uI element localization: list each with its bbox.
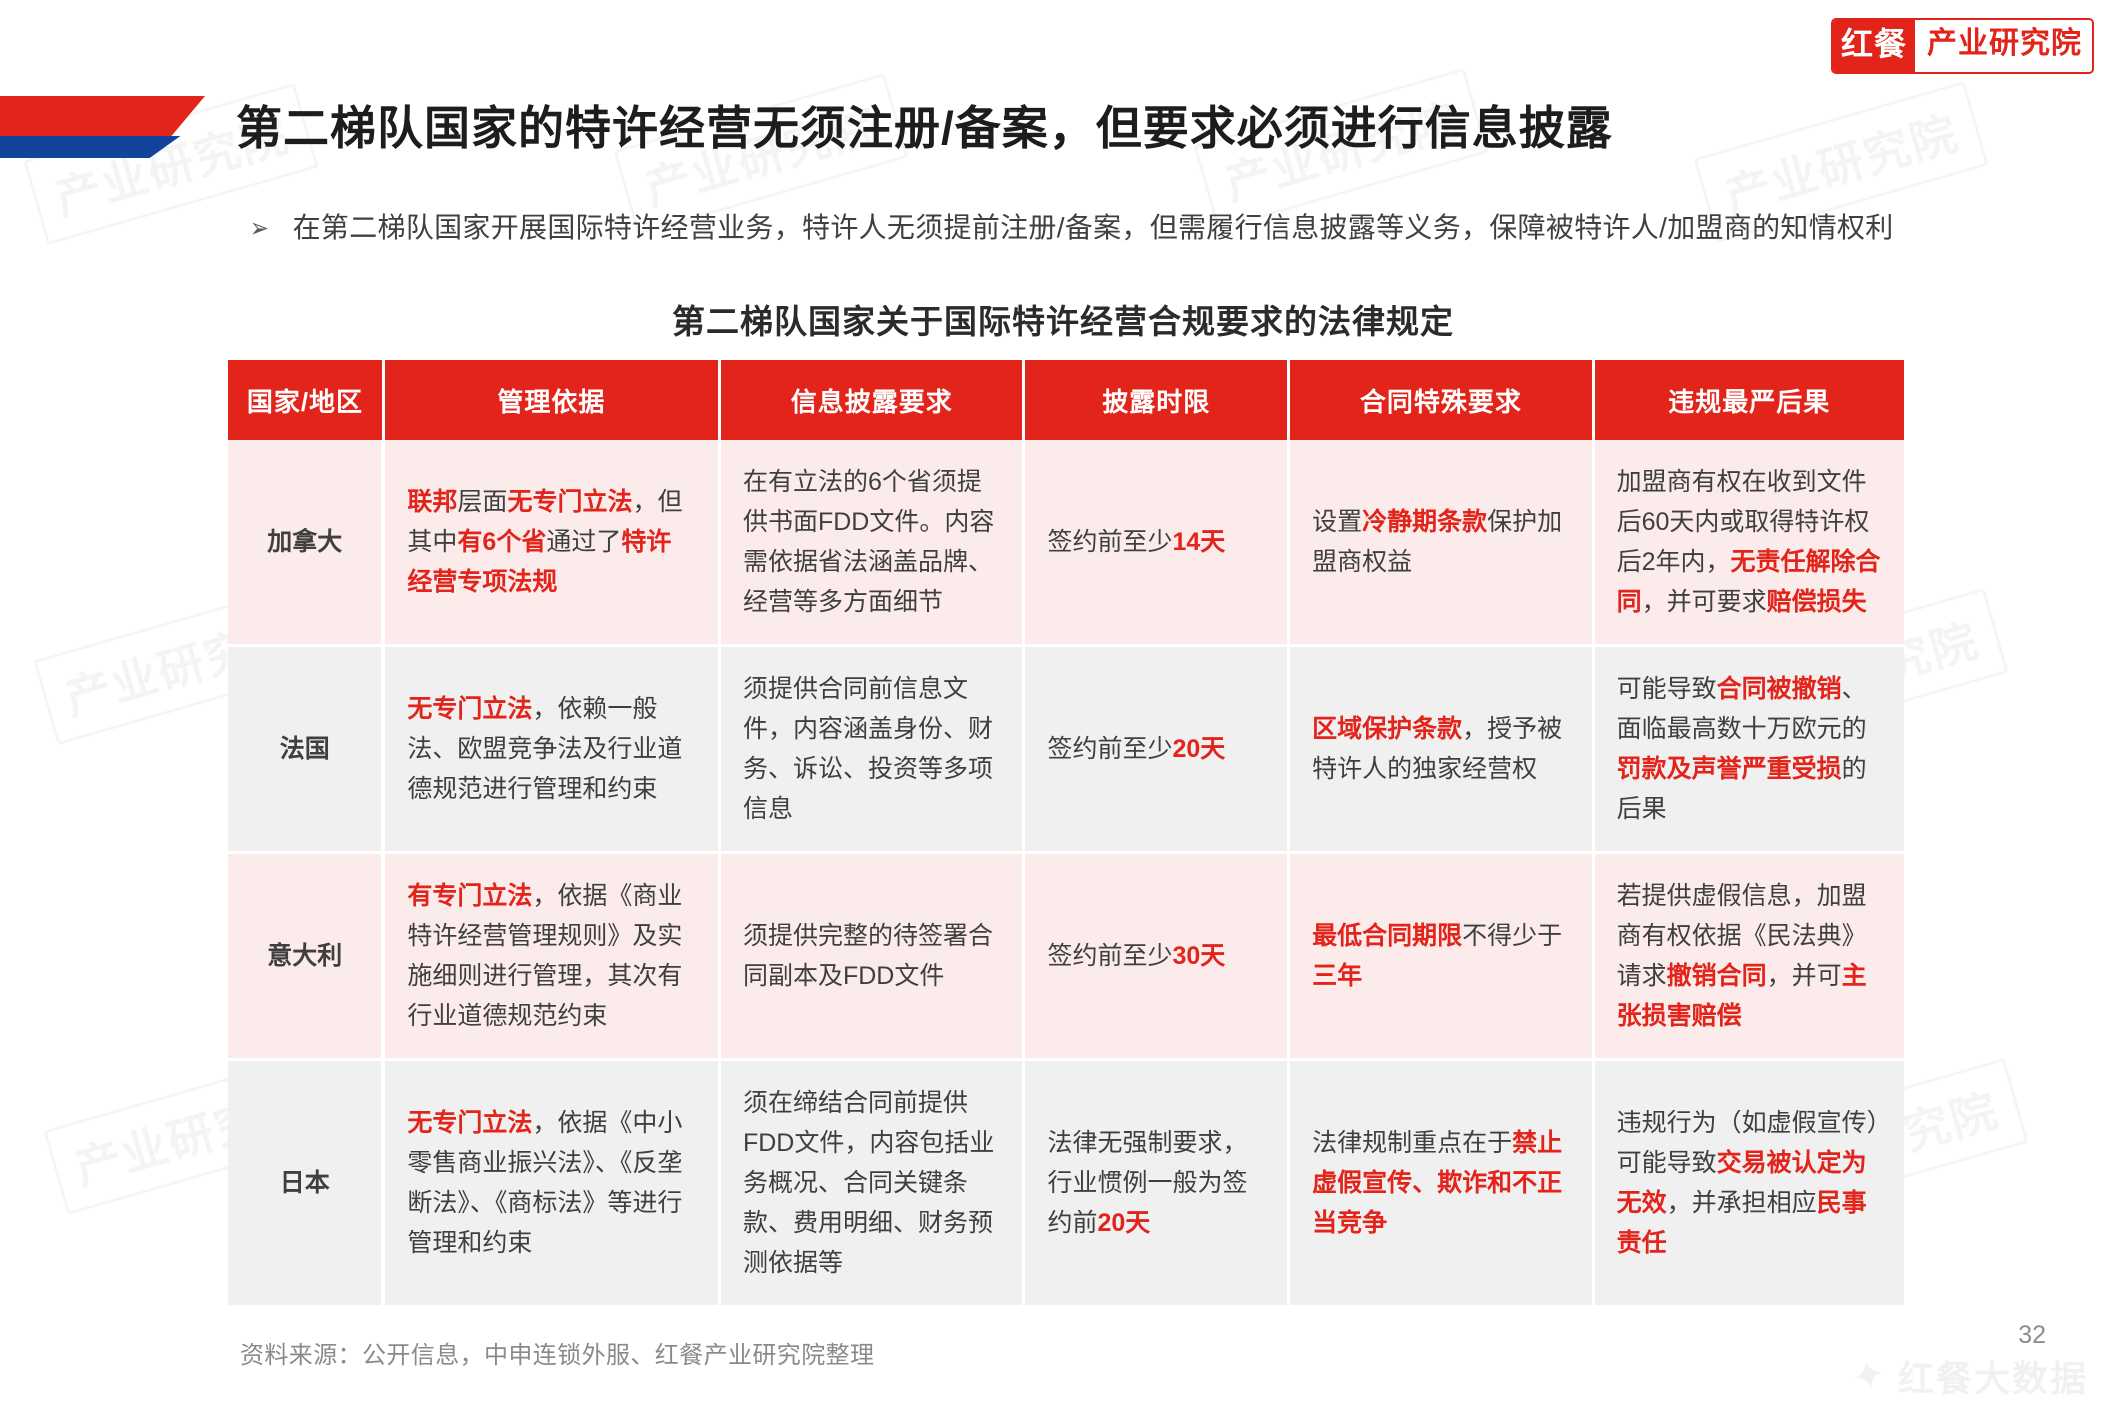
column-header-disclosure: 信息披露要求 (719, 360, 1024, 440)
footer-watermark-label: 红餐大数据 (1898, 1350, 2088, 1402)
cell-consequence: 可能导致合同被撤销、面临最高数十万欧元的罚款及声誉严重受损的后果 (1593, 646, 1904, 853)
body-text: 法律规制重点在于 (1312, 1129, 1512, 1157)
body-text: 层面 (457, 488, 507, 516)
cell-basis: 有专门立法，依据《商业特许经营管理规则》及实施细则进行管理，其次有行业道德规范约… (383, 853, 719, 1060)
cell-disclosure: 须提供合同前信息文件，内容涵盖身份、财务、诉讼、投资等多项信息 (719, 646, 1024, 853)
body-text: 须提供合同前信息文件，内容涵盖身份、财务、诉讼、投资等多项信息 (743, 675, 993, 823)
bullet-text: 在第二梯队国家开展国际特许经营业务，特许人无须提前注册/备案，但需履行信息披露等… (293, 208, 1894, 248)
highlighted-text: 14天 (1172, 528, 1225, 556)
cell-consequence: 加盟商有权在收到文件后60天内或取得特许权后2年内，无责任解除合同，并可要求赔偿… (1593, 440, 1904, 646)
body-text: 签约前至少 (1047, 528, 1172, 556)
body-text: 可能导致 (1617, 675, 1717, 703)
cell-deadline: 签约前至少20天 (1024, 646, 1289, 853)
cell-deadline: 法律无强制要求，行业惯例一般为签约前20天 (1024, 1060, 1289, 1307)
cell-basis: 无专门立法，依赖一般法、欧盟竞争法及行业道德规范进行管理和约束 (383, 646, 719, 853)
source-note: 资料来源：公开信息，中申连锁外服、红餐产业研究院整理 (240, 1335, 874, 1370)
legal-requirements-table: 国家/地区 管理依据 信息披露要求 披露时限 合同特殊要求 违规最严后果 加拿大… (228, 360, 1904, 1308)
footer-watermark: ✦ 红餐大数据 (1852, 1350, 2088, 1402)
cell-disclosure: 在有立法的6个省须提供书面FDD文件。内容需依据省法涵盖品牌、经营等多方面细节 (719, 440, 1024, 646)
body-text: ，并承担相应 (1667, 1189, 1817, 1217)
title-row: 第二梯队国家的特许经营无须注册/备案，但要求必须进行信息披露 (0, 96, 2126, 166)
body-text: 设置 (1312, 508, 1362, 536)
bullet-arrow-icon: ➢ (250, 208, 269, 248)
table-head: 国家/地区 管理依据 信息披露要求 披露时限 合同特殊要求 违规最严后果 (228, 360, 1904, 440)
highlighted-text: 有专门立法 (407, 882, 532, 910)
body-text: ，并可要求 (1642, 588, 1767, 616)
column-header-deadline: 披露时限 (1024, 360, 1289, 440)
page-number: 32 (2018, 1321, 2046, 1350)
brand-name: 产业研究院 (1915, 20, 2092, 72)
cell-disclosure: 须在缔结合同前提供FDD文件，内容包括业务概况、合同关键条款、费用明细、财务预测… (719, 1060, 1024, 1307)
table-row: 意大利有专门立法，依据《商业特许经营管理规则》及实施细则进行管理，其次有行业道德… (228, 853, 1904, 1060)
body-text: 须在缔结合同前提供FDD文件，内容包括业务概况、合同关键条款、费用明细、财务预测… (743, 1089, 994, 1277)
brand-logo: 红餐 产业研究院 (1831, 18, 2094, 74)
cell-contract: 最低合同期限不得少于三年 (1289, 853, 1594, 1060)
bullet-row: ➢ 在第二梯队国家开展国际特许经营业务，特许人无须提前注册/备案，但需履行信息披… (248, 208, 2006, 248)
cell-country: 意大利 (228, 853, 383, 1060)
page-title: 第二梯队国家的特许经营无须注册/备案，但要求必须进行信息披露 (236, 92, 1613, 158)
legal-table-wrapper: 国家/地区 管理依据 信息披露要求 披露时限 合同特殊要求 违规最严后果 加拿大… (228, 360, 1904, 1308)
body-text: 须提供完整的待签署合同副本及FDD文件 (743, 922, 993, 990)
column-header-contract: 合同特殊要求 (1289, 360, 1594, 440)
cell-basis: 联邦层面无专门立法，但其中有6个省通过了特许经营专项法规 (383, 440, 719, 646)
cell-deadline: 签约前至少14天 (1024, 440, 1289, 646)
cell-consequence: 若提供虚假信息，加盟商有权依据《民法典》请求撤销合同，并可主张损害赔偿 (1593, 853, 1904, 1060)
highlighted-text: 20天 (1172, 735, 1225, 763)
slide-root: 产业研究院 产业研究院 产业研究院 产业研究院 产业研究院 产业研究院 产业研究… (0, 0, 2126, 1418)
highlighted-text: 三年 (1312, 962, 1362, 990)
cell-contract: 法律规制重点在于禁止虚假宣传、欺诈和不正当竞争 (1289, 1060, 1594, 1307)
title-accent-shape (0, 96, 205, 158)
column-header-basis: 管理依据 (383, 360, 719, 440)
highlighted-text: 有6个省 (457, 528, 546, 556)
cell-country: 法国 (228, 646, 383, 853)
highlighted-text: 30天 (1172, 942, 1225, 970)
highlighted-text: 合同被撤销 (1717, 675, 1842, 703)
body-text: ，并可 (1767, 962, 1842, 990)
body-text: 在有立法的6个省须提供书面FDD文件。内容需依据省法涵盖品牌、经营等多方面细节 (743, 468, 994, 616)
highlighted-text: 撤销合同 (1667, 962, 1767, 990)
table-title: 第二梯队国家关于国际特许经营合规要求的法律规定 (0, 295, 2126, 343)
highlighted-text: 无专门立法 (407, 695, 532, 723)
body-text: 通过了 (546, 528, 621, 556)
brand-mark: 红餐 (1833, 20, 1915, 72)
table-row: 加拿大联邦层面无专门立法，但其中有6个省通过了特许经营专项法规在有立法的6个省须… (228, 440, 1904, 646)
cell-basis: 无专门立法，依据《中小零售商业振兴法》、《反垄断法》、《商标法》等进行管理和约束 (383, 1060, 719, 1307)
table-row: 法国无专门立法，依赖一般法、欧盟竞争法及行业道德规范进行管理和约束须提供合同前信… (228, 646, 1904, 853)
body-text: 签约前至少 (1047, 942, 1172, 970)
cell-contract: 设置冷静期条款保护加盟商权益 (1289, 440, 1594, 646)
cell-country: 日本 (228, 1060, 383, 1307)
highlighted-text: 无专门立法 (407, 1109, 532, 1137)
highlighted-text: 联邦 (407, 488, 457, 516)
table-header-row: 国家/地区 管理依据 信息披露要求 披露时限 合同特殊要求 违规最严后果 (228, 360, 1904, 440)
swoosh-icon: ✦ (1848, 1350, 1892, 1402)
highlighted-text: 无专门立法 (507, 488, 632, 516)
cell-country: 加拿大 (228, 440, 383, 646)
highlighted-text: 冷静期条款 (1362, 508, 1487, 536)
highlighted-text: 最低合同期限 (1312, 922, 1462, 950)
cell-disclosure: 须提供完整的待签署合同副本及FDD文件 (719, 853, 1024, 1060)
highlighted-text: 罚款及声誉严重受损 (1617, 755, 1842, 783)
body-text: 签约前至少 (1047, 735, 1172, 763)
highlighted-text: 区域保护条款 (1312, 715, 1462, 743)
column-header-country: 国家/地区 (228, 360, 383, 440)
accent-red-bar (0, 96, 205, 140)
body-text: 不得少于 (1462, 922, 1562, 950)
column-header-consequence: 违规最严后果 (1593, 360, 1904, 440)
cell-contract: 区域保护条款，授予被特许人的独家经营权 (1289, 646, 1594, 853)
table-row: 日本无专门立法，依据《中小零售商业振兴法》、《反垄断法》、《商标法》等进行管理和… (228, 1060, 1904, 1307)
highlighted-text: 20天 (1097, 1209, 1150, 1237)
highlighted-text: 赔偿损失 (1767, 588, 1867, 616)
table-body: 加拿大联邦层面无专门立法，但其中有6个省通过了特许经营专项法规在有立法的6个省须… (228, 440, 1904, 1307)
cell-consequence: 违规行为（如虚假宣传）可能导致交易被认定为无效，并承担相应民事责任 (1593, 1060, 1904, 1307)
cell-deadline: 签约前至少30天 (1024, 853, 1289, 1060)
accent-blue-bar (0, 136, 205, 158)
